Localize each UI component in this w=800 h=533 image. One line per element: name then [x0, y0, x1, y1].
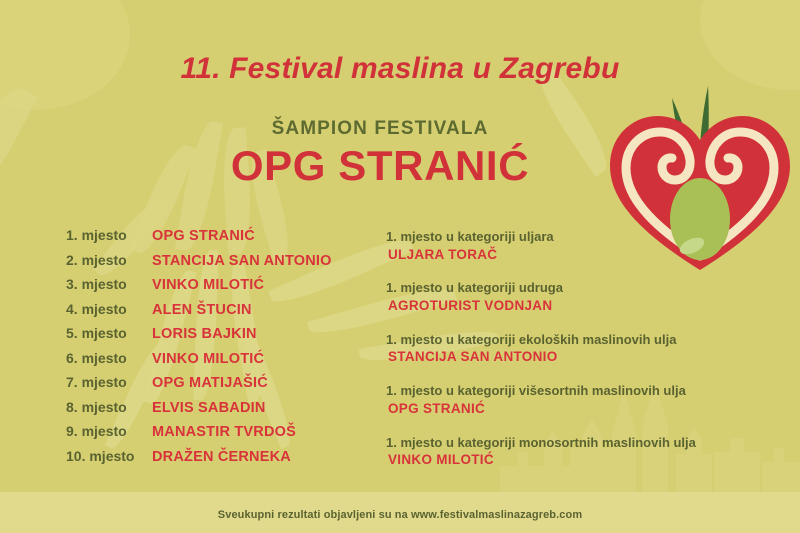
- ranking-row: 10. mjesto DRAŽEN ČERNEKA: [66, 448, 366, 473]
- ranking-position: 7. mjesto: [66, 374, 152, 390]
- category-winner: VINKO MILOTIĆ: [386, 451, 786, 470]
- ranking-row: 8. mjesto ELVIS SABADIN: [66, 399, 366, 424]
- footer-note: Sveukupni rezultati objavljeni su na www…: [0, 509, 800, 521]
- ranking-row: 1. mjesto OPG STRANIĆ: [66, 227, 366, 252]
- category-label: 1. mjesto u kategoriji udruga: [386, 279, 786, 297]
- ranking-name: LORIS BAJKIN: [152, 326, 257, 342]
- ranking-position: 3. mjesto: [66, 276, 152, 292]
- ranking-name: OPG STRANIĆ: [152, 228, 255, 244]
- category-winners-list: 1. mjesto u kategoriji uljara ULJARA TOR…: [386, 228, 786, 470]
- ranking-row: 6. mjesto VINKO MILOTIĆ: [66, 350, 366, 375]
- ranking-name: STANCIJA SAN ANTONIO: [152, 253, 332, 269]
- category-winner: AGROTURIST VODNJAN: [386, 297, 786, 316]
- ranking-row: 5. mjesto LORIS BAJKIN: [66, 325, 366, 350]
- category-label: 1. mjesto u kategoriji monosortnih masli…: [386, 434, 786, 452]
- category-winner: ULJARA TORAČ: [386, 246, 786, 265]
- ranking-position: 9. mjesto: [66, 423, 152, 439]
- ranking-name: DRAŽEN ČERNEKA: [152, 449, 291, 465]
- overall-ranking-list: 1. mjesto OPG STRANIĆ 2. mjesto STANCIJA…: [66, 227, 366, 472]
- ranking-row: 9. mjesto MANASTIR TVRDOŠ: [66, 423, 366, 448]
- category-label: 1. mjesto u kategoriji ekoloških maslino…: [386, 331, 786, 349]
- category-winner: STANCIJA SAN ANTONIO: [386, 348, 786, 367]
- ranking-name: ALEN ŠTUCIN: [152, 302, 252, 318]
- ranking-position: 1. mjesto: [66, 227, 152, 243]
- champion-kicker: ŠAMPION FESTIVALA: [160, 118, 600, 140]
- ranking-row: 2. mjesto STANCIJA SAN ANTONIO: [66, 252, 366, 277]
- category-winner: OPG STRANIĆ: [386, 400, 786, 419]
- ranking-name: VINKO MILOTIĆ: [152, 351, 264, 367]
- ranking-position: 10. mjesto: [66, 448, 152, 464]
- ranking-name: VINKO MILOTIĆ: [152, 277, 264, 293]
- ranking-name: ELVIS SABADIN: [152, 400, 266, 416]
- category-block: 1. mjesto u kategoriji ekoloških maslino…: [386, 331, 786, 367]
- ranking-name: MANASTIR TVRDOŠ: [152, 424, 296, 440]
- category-label: 1. mjesto u kategoriji uljara: [386, 228, 786, 246]
- poster-canvas: 11. Festival maslina u Zagrebu ŠAMPION F…: [0, 0, 800, 533]
- ranking-position: 6. mjesto: [66, 350, 152, 366]
- ranking-row: 3. mjesto VINKO MILOTIĆ: [66, 276, 366, 301]
- champion-block: ŠAMPION FESTIVALA OPG STRANIĆ: [160, 118, 600, 188]
- ranking-position: 4. mjesto: [66, 301, 152, 317]
- ranking-name: OPG MATIJAŠIĆ: [152, 375, 268, 391]
- category-block: 1. mjesto u kategoriji uljara ULJARA TOR…: [386, 228, 786, 264]
- category-block: 1. mjesto u kategoriji višesortnih masli…: [386, 382, 786, 418]
- ranking-row: 7. mjesto OPG MATIJAŠIĆ: [66, 374, 366, 399]
- ranking-row: 4. mjesto ALEN ŠTUCIN: [66, 301, 366, 326]
- ranking-position: 8. mjesto: [66, 399, 152, 415]
- category-block: 1. mjesto u kategoriji udruga AGROTURIST…: [386, 279, 786, 315]
- category-block: 1. mjesto u kategoriji monosortnih masli…: [386, 434, 786, 470]
- watermark-leaf: [0, 78, 38, 212]
- champion-name: OPG STRANIĆ: [160, 144, 600, 188]
- category-label: 1. mjesto u kategoriji višesortnih masli…: [386, 382, 786, 400]
- ranking-position: 5. mjesto: [66, 325, 152, 341]
- ranking-position: 2. mjesto: [66, 252, 152, 268]
